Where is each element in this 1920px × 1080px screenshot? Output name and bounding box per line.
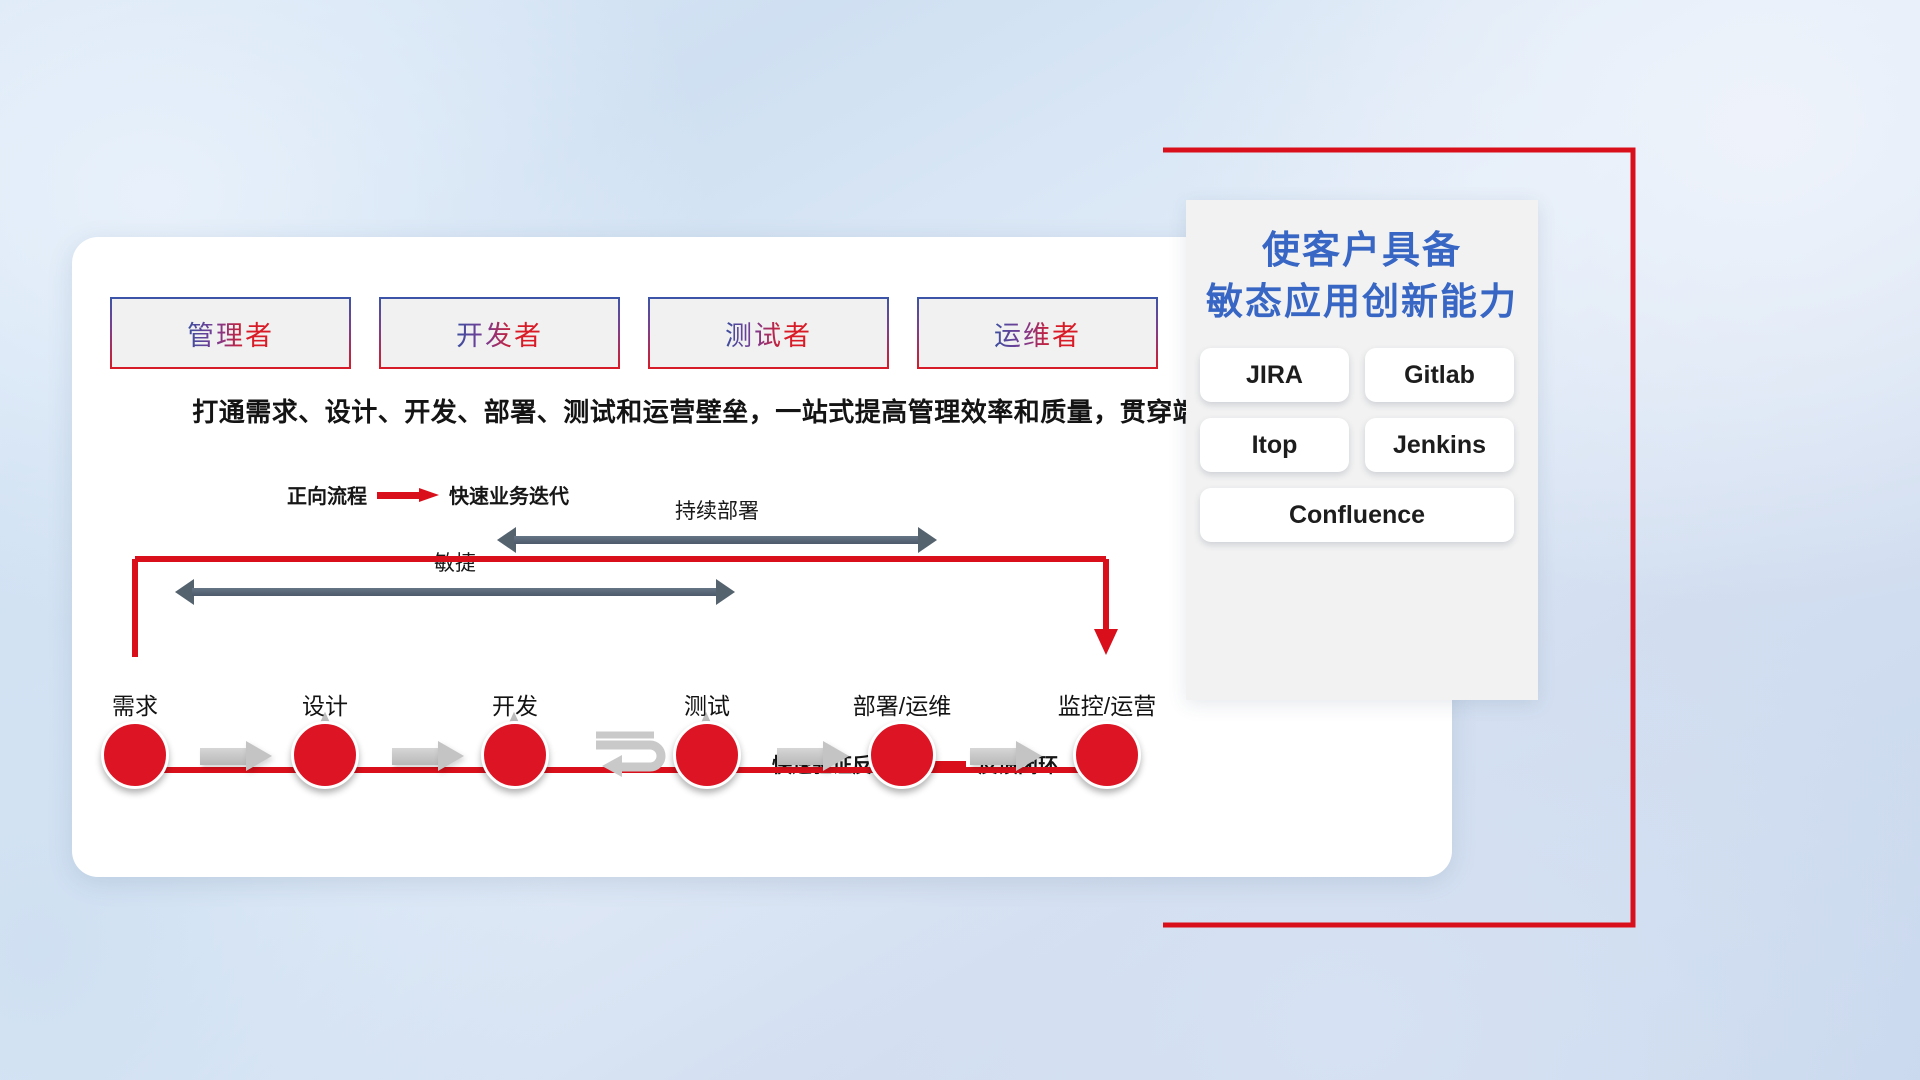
tool-chip-jenkins[interactable]: Jenkins: [1365, 418, 1514, 472]
tool-chip-label: Confluence: [1289, 501, 1425, 530]
flow-arrow-4-icon: [970, 741, 1042, 771]
process-node-dot: [481, 721, 549, 789]
flow-arrow-1-icon: [200, 741, 272, 771]
arrowhead-right-icon: [716, 579, 735, 605]
tool-chip-gitlab[interactable]: Gitlab: [1365, 348, 1514, 402]
role-label: 开发者: [456, 314, 543, 353]
process-node-dot: [101, 721, 169, 789]
arrowhead-right-icon: [918, 527, 937, 553]
role-label: 运维者: [994, 314, 1081, 353]
process-flow-row: 需求 设计 开发: [72, 689, 1452, 809]
process-node-label: 设计: [302, 687, 348, 721]
slide-canvas: 管理者 开发者 测试者 运维者 运营者 打通需求、设计、开发、部署、测试和运营壁…: [0, 0, 1920, 1080]
legend-forward-source: 正向流程: [287, 480, 367, 509]
panel-title-line1: 使客户具备: [1186, 226, 1538, 277]
tool-chip-confluence[interactable]: Confluence: [1200, 488, 1514, 542]
process-node-dot: [673, 721, 741, 789]
flow-arrow-3-icon: [777, 741, 849, 771]
tool-chip-label: Jenkins: [1393, 431, 1486, 460]
span-arrow-agile: 敏捷: [175, 579, 735, 605]
tool-chip-label: JIRA: [1246, 361, 1303, 390]
panel-title-line2: 敏态应用创新能力: [1186, 277, 1538, 327]
process-node-label: 测试: [684, 687, 730, 721]
process-node-label: 开发: [492, 687, 538, 721]
process-node-label: 需求: [112, 687, 158, 721]
role-box-manager[interactable]: 管理者: [110, 297, 351, 369]
arrow-shaft: [192, 588, 718, 596]
process-node-label: 监控/运营: [1058, 687, 1156, 721]
process-node-label: 部署/运维: [853, 687, 951, 721]
tool-chip-label: Gitlab: [1404, 361, 1475, 390]
process-node-dot: [868, 721, 936, 789]
capability-panel: 使客户具备 敏态应用创新能力 JIRA Gitlab Itop Jenkins …: [1186, 200, 1538, 700]
span-label-agile: 敏捷: [175, 547, 735, 577]
role-label: 测试者: [725, 314, 812, 353]
flow-arrow-2-icon: [392, 741, 464, 771]
tool-chip-jira[interactable]: JIRA: [1200, 348, 1349, 402]
role-box-developer[interactable]: 开发者: [379, 297, 620, 369]
role-label: 管理者: [187, 314, 274, 353]
tool-chip-itop[interactable]: Itop: [1200, 418, 1349, 472]
arrow-right-red-icon: [377, 488, 439, 502]
tool-chip-list: JIRA Gitlab Itop Jenkins Confluence: [1186, 326, 1538, 542]
panel-title: 使客户具备 敏态应用创新能力: [1186, 200, 1538, 326]
span-label-continuous-deploy: 持续部署: [497, 495, 937, 525]
role-box-tester[interactable]: 测试者: [648, 297, 889, 369]
arrow-shaft: [514, 536, 920, 544]
role-box-ops[interactable]: 运维者: [917, 297, 1158, 369]
process-node-dot: [291, 721, 359, 789]
iteration-loop-icon: [592, 731, 678, 785]
tool-chip-label: Itop: [1252, 431, 1298, 460]
process-node-dot: [1073, 721, 1141, 789]
